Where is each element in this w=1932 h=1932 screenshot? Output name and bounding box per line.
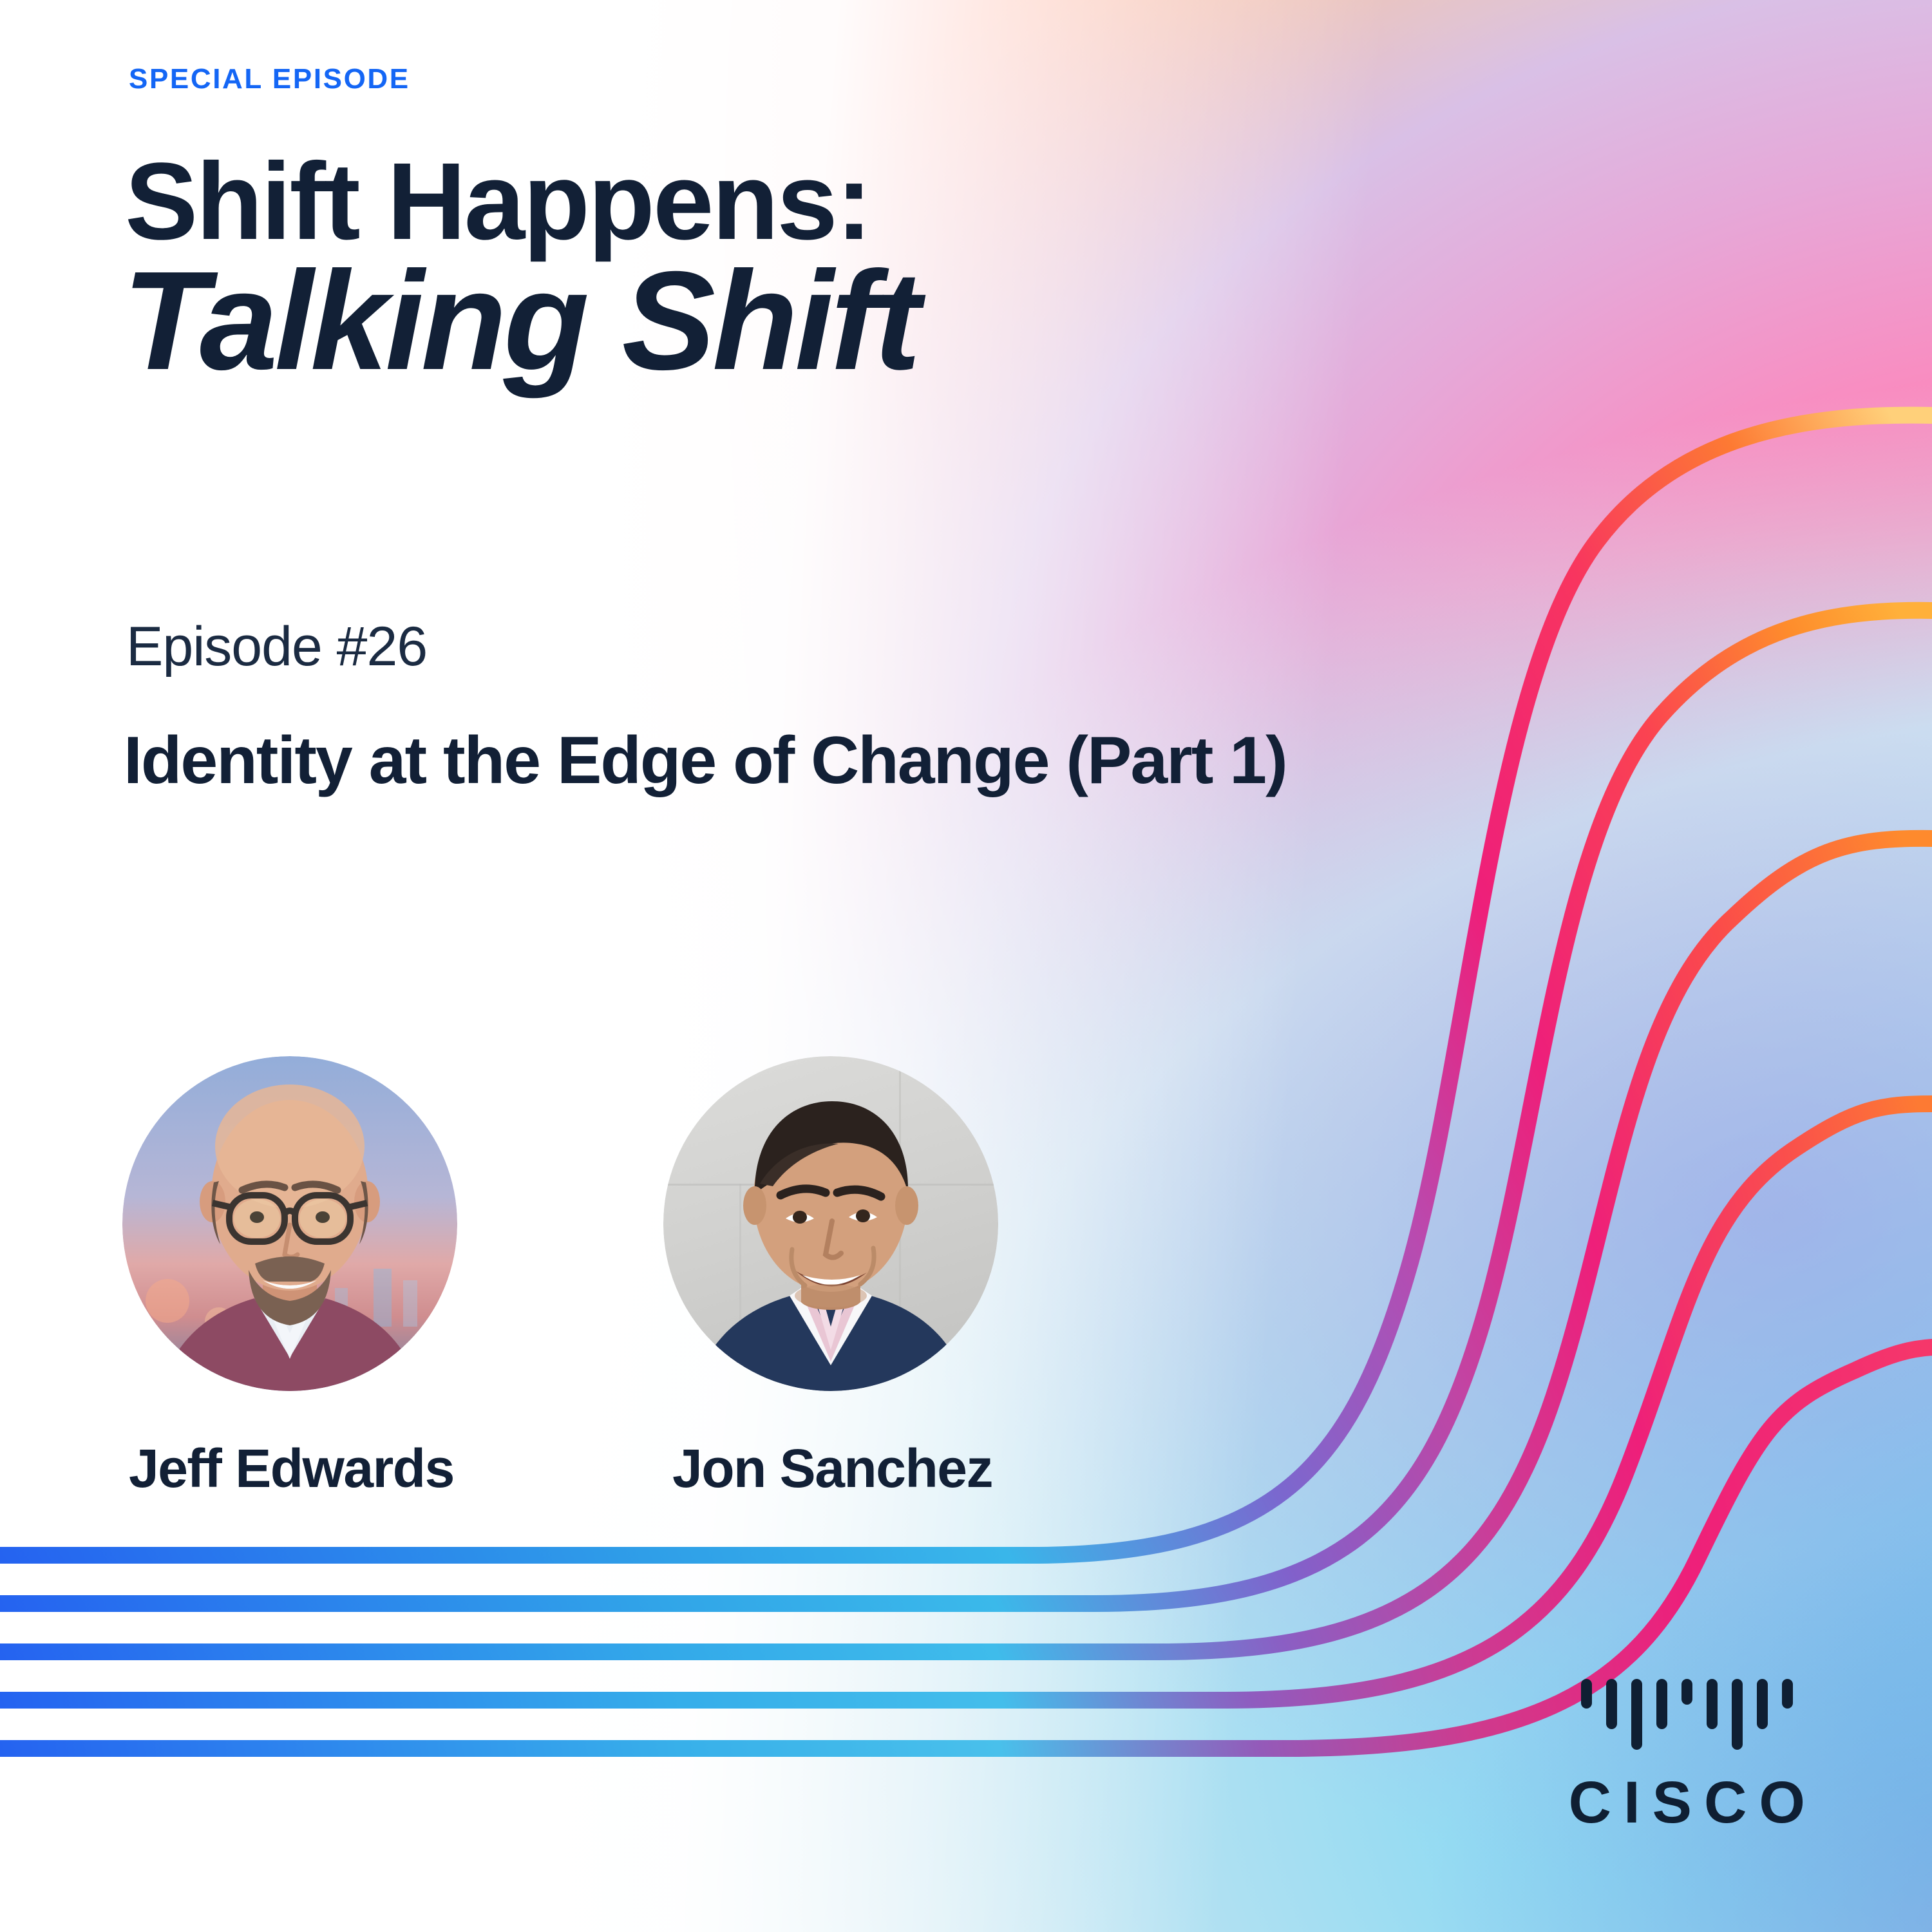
cisco-bar: [1681, 1679, 1692, 1705]
avatar: [122, 1056, 457, 1391]
cisco-bar: [1707, 1679, 1718, 1729]
cisco-bar: [1581, 1679, 1592, 1709]
host-jon-sanchez: Jon Sanchez: [663, 1056, 998, 1500]
episode-title: Identity at the Edge of Change (Part 1): [124, 721, 1489, 800]
cisco-bar: [1606, 1679, 1617, 1729]
cisco-bar: [1732, 1679, 1743, 1750]
host-name: Jeff Edwards: [122, 1437, 464, 1500]
special-episode-eyebrow: SPECIAL EPISODE: [129, 63, 410, 95]
episode-number: Episode #26: [126, 615, 427, 679]
show-title-line-2: Talking Shift: [122, 251, 918, 392]
cisco-wordmark: CISCO: [1557, 1769, 1817, 1837]
host-name: Jon Sanchez: [663, 1437, 1007, 1500]
cisco-logo: CISCO: [1557, 1679, 1817, 1837]
podcast-cover-art: SPECIAL EPISODE Shift Happens: Talking S…: [0, 0, 1932, 1932]
avatar: [663, 1056, 998, 1391]
portrait-jon-sanchez-icon: [663, 1056, 998, 1391]
cisco-bar: [1656, 1679, 1667, 1729]
show-title-line-1: Shift Happens:: [125, 147, 870, 256]
cisco-bridge-icon: [1581, 1679, 1793, 1750]
portrait-jeff-edwards-icon: [122, 1056, 457, 1391]
cisco-bar: [1631, 1679, 1642, 1750]
cisco-bar: [1757, 1679, 1768, 1729]
cisco-bar: [1782, 1679, 1793, 1709]
hosts-list: Jeff Edwards: [122, 1056, 998, 1500]
host-jeff-edwards: Jeff Edwards: [122, 1056, 457, 1500]
